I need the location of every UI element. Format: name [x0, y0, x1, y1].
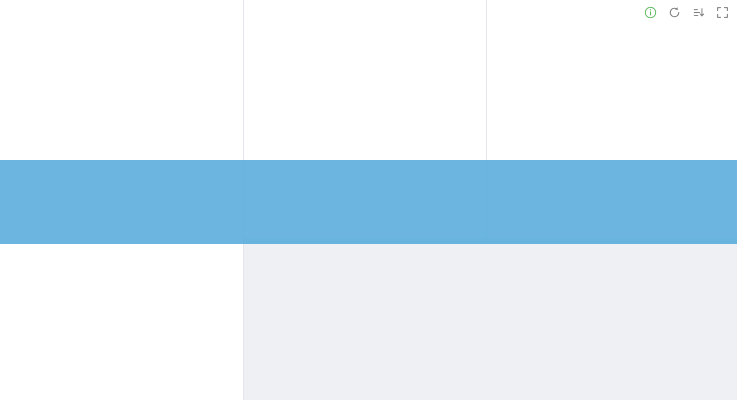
- info-icon[interactable]: [644, 6, 657, 19]
- fullscreen-icon[interactable]: [716, 6, 729, 19]
- sort-icon[interactable]: [692, 6, 705, 19]
- overlay-banner: [0, 160, 737, 244]
- panel-toolbar-conversion-dept: [644, 6, 729, 19]
- refresh-icon[interactable]: [668, 6, 681, 19]
